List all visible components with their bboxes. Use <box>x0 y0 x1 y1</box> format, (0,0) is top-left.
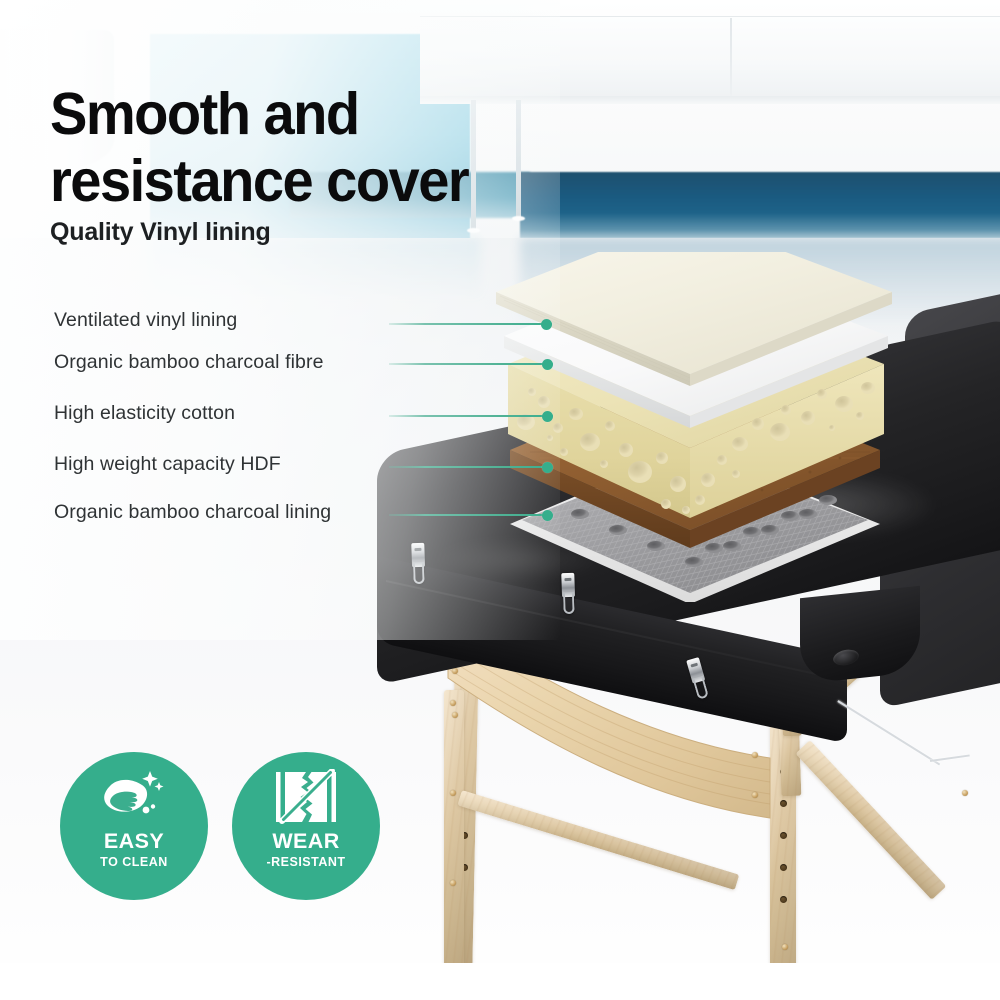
no-tear-fabric-icon <box>270 769 342 825</box>
callout-leader-line-2 <box>389 415 553 417</box>
callout-label-4: Organic bamboo charcoal lining <box>54 501 331 524</box>
callout-leader-dot-2 <box>542 411 553 422</box>
callout-leader-line-3 <box>389 466 553 468</box>
callout-leader-dot-1 <box>542 359 553 370</box>
bottom-white-band <box>0 963 1000 1000</box>
badge-subtitle: -RESISTANT <box>266 855 345 869</box>
badge-title: EASY <box>104 829 164 854</box>
callout-leader-line-0 <box>389 323 552 325</box>
callout-leader-line-1 <box>389 363 553 365</box>
callout-label-1: Organic bamboo charcoal fibre <box>54 351 324 374</box>
product-feature-infographic: Smooth and resistance cover Quality Viny… <box>0 0 1000 1000</box>
callout-leader-line-4 <box>389 514 553 516</box>
feature-badges: EASY TO CLEAN WEAR -RESISTANT <box>60 752 380 900</box>
badge-wear-resistant: WEAR -RESISTANT <box>232 752 380 900</box>
badge-title: WEAR <box>272 829 339 854</box>
callout-leader-dot-3 <box>542 462 553 473</box>
callout-leader-dot-0 <box>541 319 552 330</box>
callout-label-0: Ventilated vinyl lining <box>54 309 237 332</box>
callout-leader-dot-4 <box>542 510 553 521</box>
wiping-hand-sparkle-icon <box>98 769 170 825</box>
callout-label-3: High weight capacity HDF <box>54 453 281 476</box>
callout-label-2: High elasticity cotton <box>54 402 235 425</box>
badge-easy-to-clean: EASY TO CLEAN <box>60 752 208 900</box>
badge-subtitle: TO CLEAN <box>100 855 168 869</box>
